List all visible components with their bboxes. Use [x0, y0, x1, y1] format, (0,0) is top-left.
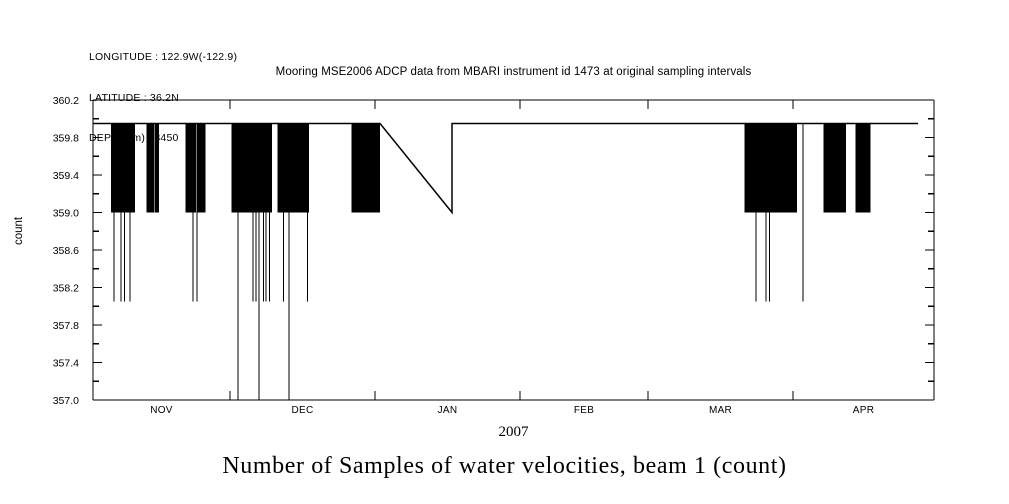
x-axis-label: 2007 [93, 424, 934, 441]
figure-caption: Number of Samples of water velocities, b… [0, 453, 1009, 480]
y-tick-label: 357.8 [53, 320, 79, 332]
y-axis-major-ticks [93, 100, 934, 400]
data-series-samples-beam1 [93, 123, 918, 400]
x-month-label: MAR [709, 405, 732, 416]
x-month-label: NOV [150, 405, 173, 416]
y-tick-label: 360.2 [53, 95, 79, 107]
y-tick-label: 358.6 [53, 245, 79, 257]
y-tick-label: 359.8 [53, 133, 79, 145]
axis-frame [93, 100, 934, 400]
y-tick-label: 358.2 [53, 283, 79, 295]
y-axis-minor-ticks [93, 119, 934, 382]
x-axis-month-labels: NOVDECJANFEBMARAPR [150, 405, 874, 416]
plot-canvas: 360.2359.8359.4359.0358.6358.2357.8357.4… [0, 0, 1009, 450]
x-month-label: APR [853, 405, 874, 416]
x-month-label: JAN [438, 405, 458, 416]
chart-page: LONGITUDE : 122.9W(-122.9) LATITUDE : 36… [0, 0, 1009, 504]
x-month-label: DEC [291, 405, 313, 416]
y-axis-tick-labels: 360.2359.8359.4359.0358.6358.2357.8357.4… [53, 95, 79, 407]
y-tick-label: 357.4 [53, 358, 79, 370]
y-tick-label: 357.0 [53, 395, 79, 407]
y-tick-label: 359.4 [53, 170, 79, 182]
y-tick-label: 359.0 [53, 208, 79, 220]
x-axis-ticks [230, 100, 793, 400]
x-month-label: FEB [574, 405, 594, 416]
